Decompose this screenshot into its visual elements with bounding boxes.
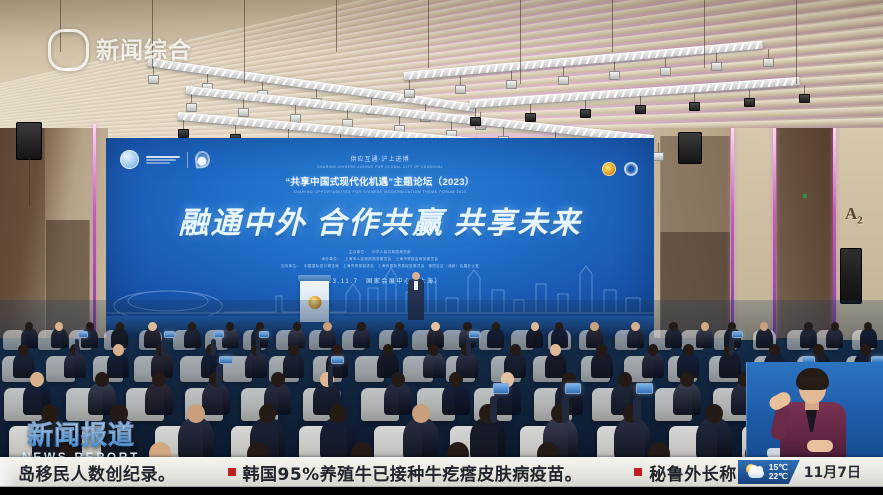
- audience-member: [51, 328, 68, 348]
- audience-member: [353, 328, 370, 348]
- audience-head: [550, 344, 561, 356]
- audience-head: [30, 372, 44, 387]
- hall-sign-letter: A: [845, 204, 857, 223]
- audience-member: [222, 328, 239, 348]
- audience-phone: [78, 331, 88, 337]
- audience-head: [323, 322, 332, 331]
- audience-phone: [331, 356, 344, 364]
- channel-watermark: 新闻综合: [48, 27, 192, 69]
- audience-member: [526, 328, 543, 348]
- weather-temps: 15℃ 22℃: [769, 463, 788, 481]
- sign-language-interpreter-pip: [746, 362, 883, 457]
- audience-head: [431, 322, 440, 331]
- hall-sign-a2: A2: [845, 204, 863, 226]
- audience-head: [618, 372, 632, 387]
- audience-phone: [493, 383, 510, 394]
- audience-head: [860, 344, 871, 356]
- screen-organizer-lines: 主办单位： 中华人民共和国商务部 承办单位： 上海市人民政府商务委员会 上海市贸…: [106, 249, 654, 268]
- weather-widget: 15℃ 22℃: [738, 460, 800, 484]
- audience-phone: [469, 331, 479, 337]
- audience-phone: [565, 383, 582, 394]
- audience-head: [428, 344, 439, 356]
- audience-member: [423, 352, 445, 378]
- audience-head: [357, 322, 366, 331]
- audience-head: [271, 372, 285, 387]
- audience-member: [64, 352, 86, 378]
- audience-member: [696, 328, 713, 348]
- audience-member: [283, 352, 305, 378]
- audience-head: [18, 344, 29, 356]
- ticker-item: 韩国95%养殖牛已接种牛疙瘩皮肤病疫苗。: [228, 460, 583, 485]
- audience-head: [590, 322, 599, 331]
- audience-member: [614, 417, 650, 459]
- audience-member: [107, 352, 129, 378]
- right-speaker-box: [678, 132, 702, 164]
- audience-member: [487, 328, 504, 348]
- audience-head: [705, 404, 723, 423]
- audience-member: [826, 328, 843, 348]
- audience-head: [95, 372, 109, 387]
- audience-head: [329, 404, 347, 423]
- audience-member: [442, 382, 470, 415]
- audience-member: [384, 382, 412, 415]
- ticker-item-text: 韩国95%养殖牛已接种牛疙瘩皮肤病疫苗。: [243, 460, 583, 485]
- audience-phone: [636, 383, 653, 394]
- audience-head: [113, 344, 124, 356]
- audience-head: [510, 344, 521, 356]
- audience-phone: [219, 356, 232, 364]
- stage-led-screen: 供应互通·沪上进博 SHARING CHINESE AVENUE FOR GLO…: [106, 138, 654, 320]
- audience-phone: [732, 331, 742, 337]
- audience-head: [669, 322, 678, 331]
- audience-member: [202, 382, 230, 415]
- audience-head: [116, 322, 125, 331]
- audience-member: [591, 352, 613, 378]
- audience-head: [383, 344, 394, 356]
- audience-member: [719, 352, 741, 378]
- ticker-items: 岛移民人数创纪录。 韩国95%养殖牛已接种牛疙瘩皮肤病疫苗。 秘鲁外长称: [0, 458, 738, 486]
- audience-phone: [214, 331, 224, 337]
- organizer-line: 主办单位： 中华人民共和国商务部: [349, 249, 411, 254]
- audience-head: [492, 322, 501, 331]
- audience-member: [642, 352, 664, 378]
- left-speaker-box: [16, 122, 42, 160]
- audience-head: [648, 344, 659, 356]
- audience-member: [145, 382, 173, 415]
- shanghai-media-logo-icon: [48, 27, 90, 69]
- audience-member: [184, 328, 201, 348]
- broadcast-screenshot: A2: [0, 0, 883, 495]
- screen-kicker-en: SHARING CHINESE AVENUE FOR GLOBAL CITY O…: [106, 165, 654, 169]
- ticker-date: 11月7日: [800, 460, 873, 484]
- audience-head: [631, 322, 640, 331]
- audience-head: [769, 344, 780, 356]
- audience-member: [673, 382, 701, 415]
- audience-phone: [259, 331, 269, 337]
- audience-member: [627, 328, 644, 348]
- ticker-item-text: 秘鲁外长称: [649, 460, 737, 485]
- audience-member: [245, 352, 267, 378]
- audience-member: [696, 417, 732, 459]
- news-ticker-bar: 岛移民人数创纪录。 韩国95%养殖牛已接种牛疙瘩皮肤病疫苗。 秘鲁外长称 15℃: [0, 457, 883, 487]
- hall-sign-number: 2: [857, 214, 863, 226]
- audience-member: [665, 328, 682, 348]
- audience-head: [288, 344, 299, 356]
- screen-date-venue: 2023.11.7 国家会展中心（上海）: [106, 276, 654, 285]
- interpreter-hand: [807, 440, 833, 452]
- screen-title-en: SHARING OPPORTUNITIES FOR CHINESE MODERN…: [106, 190, 654, 194]
- audience-head: [332, 344, 343, 356]
- program-bug-cn: 新闻报道: [22, 415, 140, 452]
- screen-text-block: 供应互通·沪上进博 SHARING CHINESE AVENUE FOR GLO…: [106, 154, 654, 285]
- ticker-item-text: 岛移民人数创纪录。: [18, 460, 176, 485]
- channel-name: 新闻综合: [96, 31, 192, 65]
- audience-head: [531, 322, 540, 331]
- audience-member: [178, 417, 214, 459]
- sun-behind-cloud-icon: [745, 464, 764, 480]
- audience-head: [831, 322, 840, 331]
- organizer-line: 承办单位： 上海市人民政府商务委员会 上海市贸促会商务委员会: [322, 256, 439, 261]
- audience-head: [391, 372, 405, 387]
- ticker-bullet-icon: [634, 468, 642, 476]
- audience-head: [187, 404, 205, 423]
- screen-title-cn: “共享中国式现代化机遇”主题论坛（2023）: [106, 174, 654, 188]
- ticker-item: 岛移民人数创纪录。: [18, 460, 176, 485]
- audience-member: [403, 417, 439, 459]
- temp-high: 22℃: [769, 472, 788, 481]
- letterbox-bar: [0, 487, 883, 495]
- ticker-bullet-icon: [228, 468, 236, 476]
- audience-member: [470, 417, 506, 459]
- organizer-line: 支持单位： 中国国际进口博览局 上海市贸易促进会 上海市国际贸易促进委员会 普陀…: [281, 263, 479, 268]
- audience-head: [256, 322, 265, 331]
- audience-member: [391, 328, 408, 348]
- screen-kicker-cn: 供应互通·沪上进博: [106, 154, 654, 163]
- ticker-item: 秘鲁外长称: [634, 460, 737, 485]
- screen-slogan: 融通中外 合作共赢 共享未来: [106, 198, 654, 242]
- audience-phone: [164, 331, 174, 337]
- audience-head: [804, 322, 813, 331]
- weather-date-block: 15℃ 22℃ 11月7日: [738, 460, 873, 484]
- audience-head: [683, 344, 694, 356]
